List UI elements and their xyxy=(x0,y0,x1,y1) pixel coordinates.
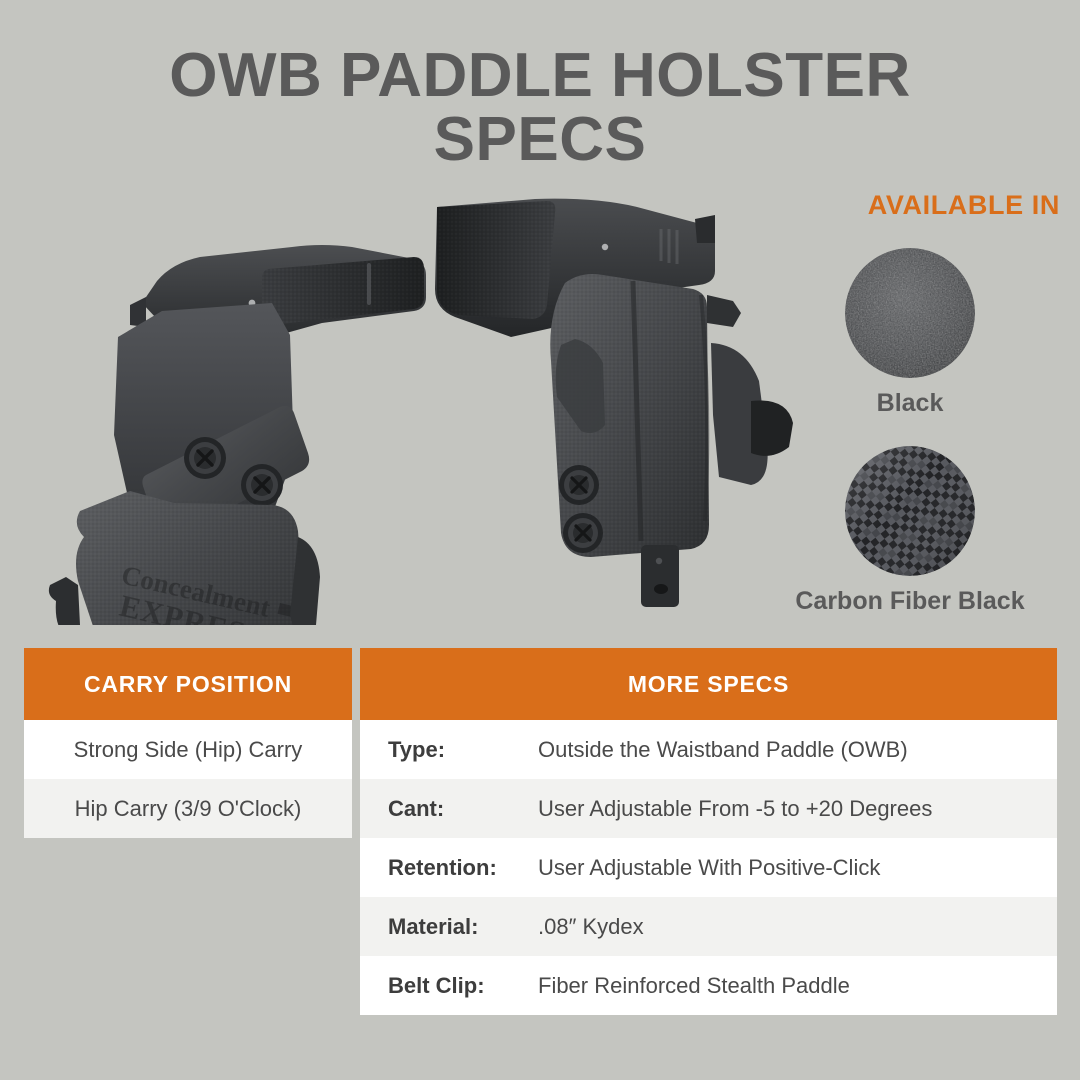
spec-label-cant: Cant: xyxy=(388,796,538,822)
spec-value-cant: User Adjustable From -5 to +20 Degrees xyxy=(538,796,932,822)
page-title: OWB PADDLE HOLSTER SPECS xyxy=(0,44,1080,172)
holster-paddle-side-view: Concealment EXPRESS xyxy=(22,185,442,625)
product-image-area: Concealment EXPRESS xyxy=(0,185,800,630)
infographic-page: OWB PADDLE HOLSTER SPECS xyxy=(0,0,1080,1080)
available-in-heading: AVAILABLE IN xyxy=(760,190,1060,221)
holster-front-view xyxy=(415,185,815,625)
spec-value-material: .08″ Kydex xyxy=(538,914,644,940)
texture-carbon-weave-swatch-icon xyxy=(845,446,975,576)
color-swatch-black[interactable]: Black xyxy=(760,248,1060,418)
clip-tab xyxy=(707,295,741,327)
more-specs-table: MORE SPECS Type: Outside the Waistband P… xyxy=(360,648,1057,1015)
texture-stipple-swatch-icon xyxy=(845,248,975,378)
spec-label-belt-clip: Belt Clip: xyxy=(388,973,538,999)
swatch-label-black: Black xyxy=(760,389,1060,418)
table-row: Hip Carry (3/9 O'Clock) xyxy=(24,779,352,838)
carry-position-table: CARRY POSITION Strong Side (Hip) Carry H… xyxy=(24,648,352,838)
spec-value-retention: User Adjustable With Positive-Click xyxy=(538,855,880,881)
table-row: Material: .08″ Kydex xyxy=(360,897,1057,956)
spec-label-material: Material: xyxy=(388,914,538,940)
specs-tables: CARRY POSITION Strong Side (Hip) Carry H… xyxy=(0,648,1080,1048)
more-specs-header: MORE SPECS xyxy=(360,648,1057,720)
paddle-hook xyxy=(49,577,80,625)
table-row: Type: Outside the Waistband Paddle (OWB) xyxy=(360,720,1057,779)
color-swatch-carbon-fiber-black[interactable]: Carbon Fiber Black xyxy=(760,446,1060,616)
table-row: Cant: User Adjustable From -5 to +20 Deg… xyxy=(360,779,1057,838)
table-row: Retention: User Adjustable With Positive… xyxy=(360,838,1057,897)
table-row: Belt Clip: Fiber Reinforced Stealth Padd… xyxy=(360,956,1057,1015)
spec-label-retention: Retention: xyxy=(388,855,538,881)
available-colors-section: AVAILABLE IN xyxy=(760,190,1060,630)
spec-value-type: Outside the Waistband Paddle (OWB) xyxy=(538,737,908,763)
table-row: Strong Side (Hip) Carry xyxy=(24,720,352,779)
swatch-label-carbon-fiber-black: Carbon Fiber Black xyxy=(760,587,1060,616)
spec-value-belt-clip: Fiber Reinforced Stealth Paddle xyxy=(538,973,850,999)
carry-position-header: CARRY POSITION xyxy=(24,648,352,720)
belt-stud xyxy=(641,545,679,607)
spec-label-type: Type: xyxy=(388,737,538,763)
